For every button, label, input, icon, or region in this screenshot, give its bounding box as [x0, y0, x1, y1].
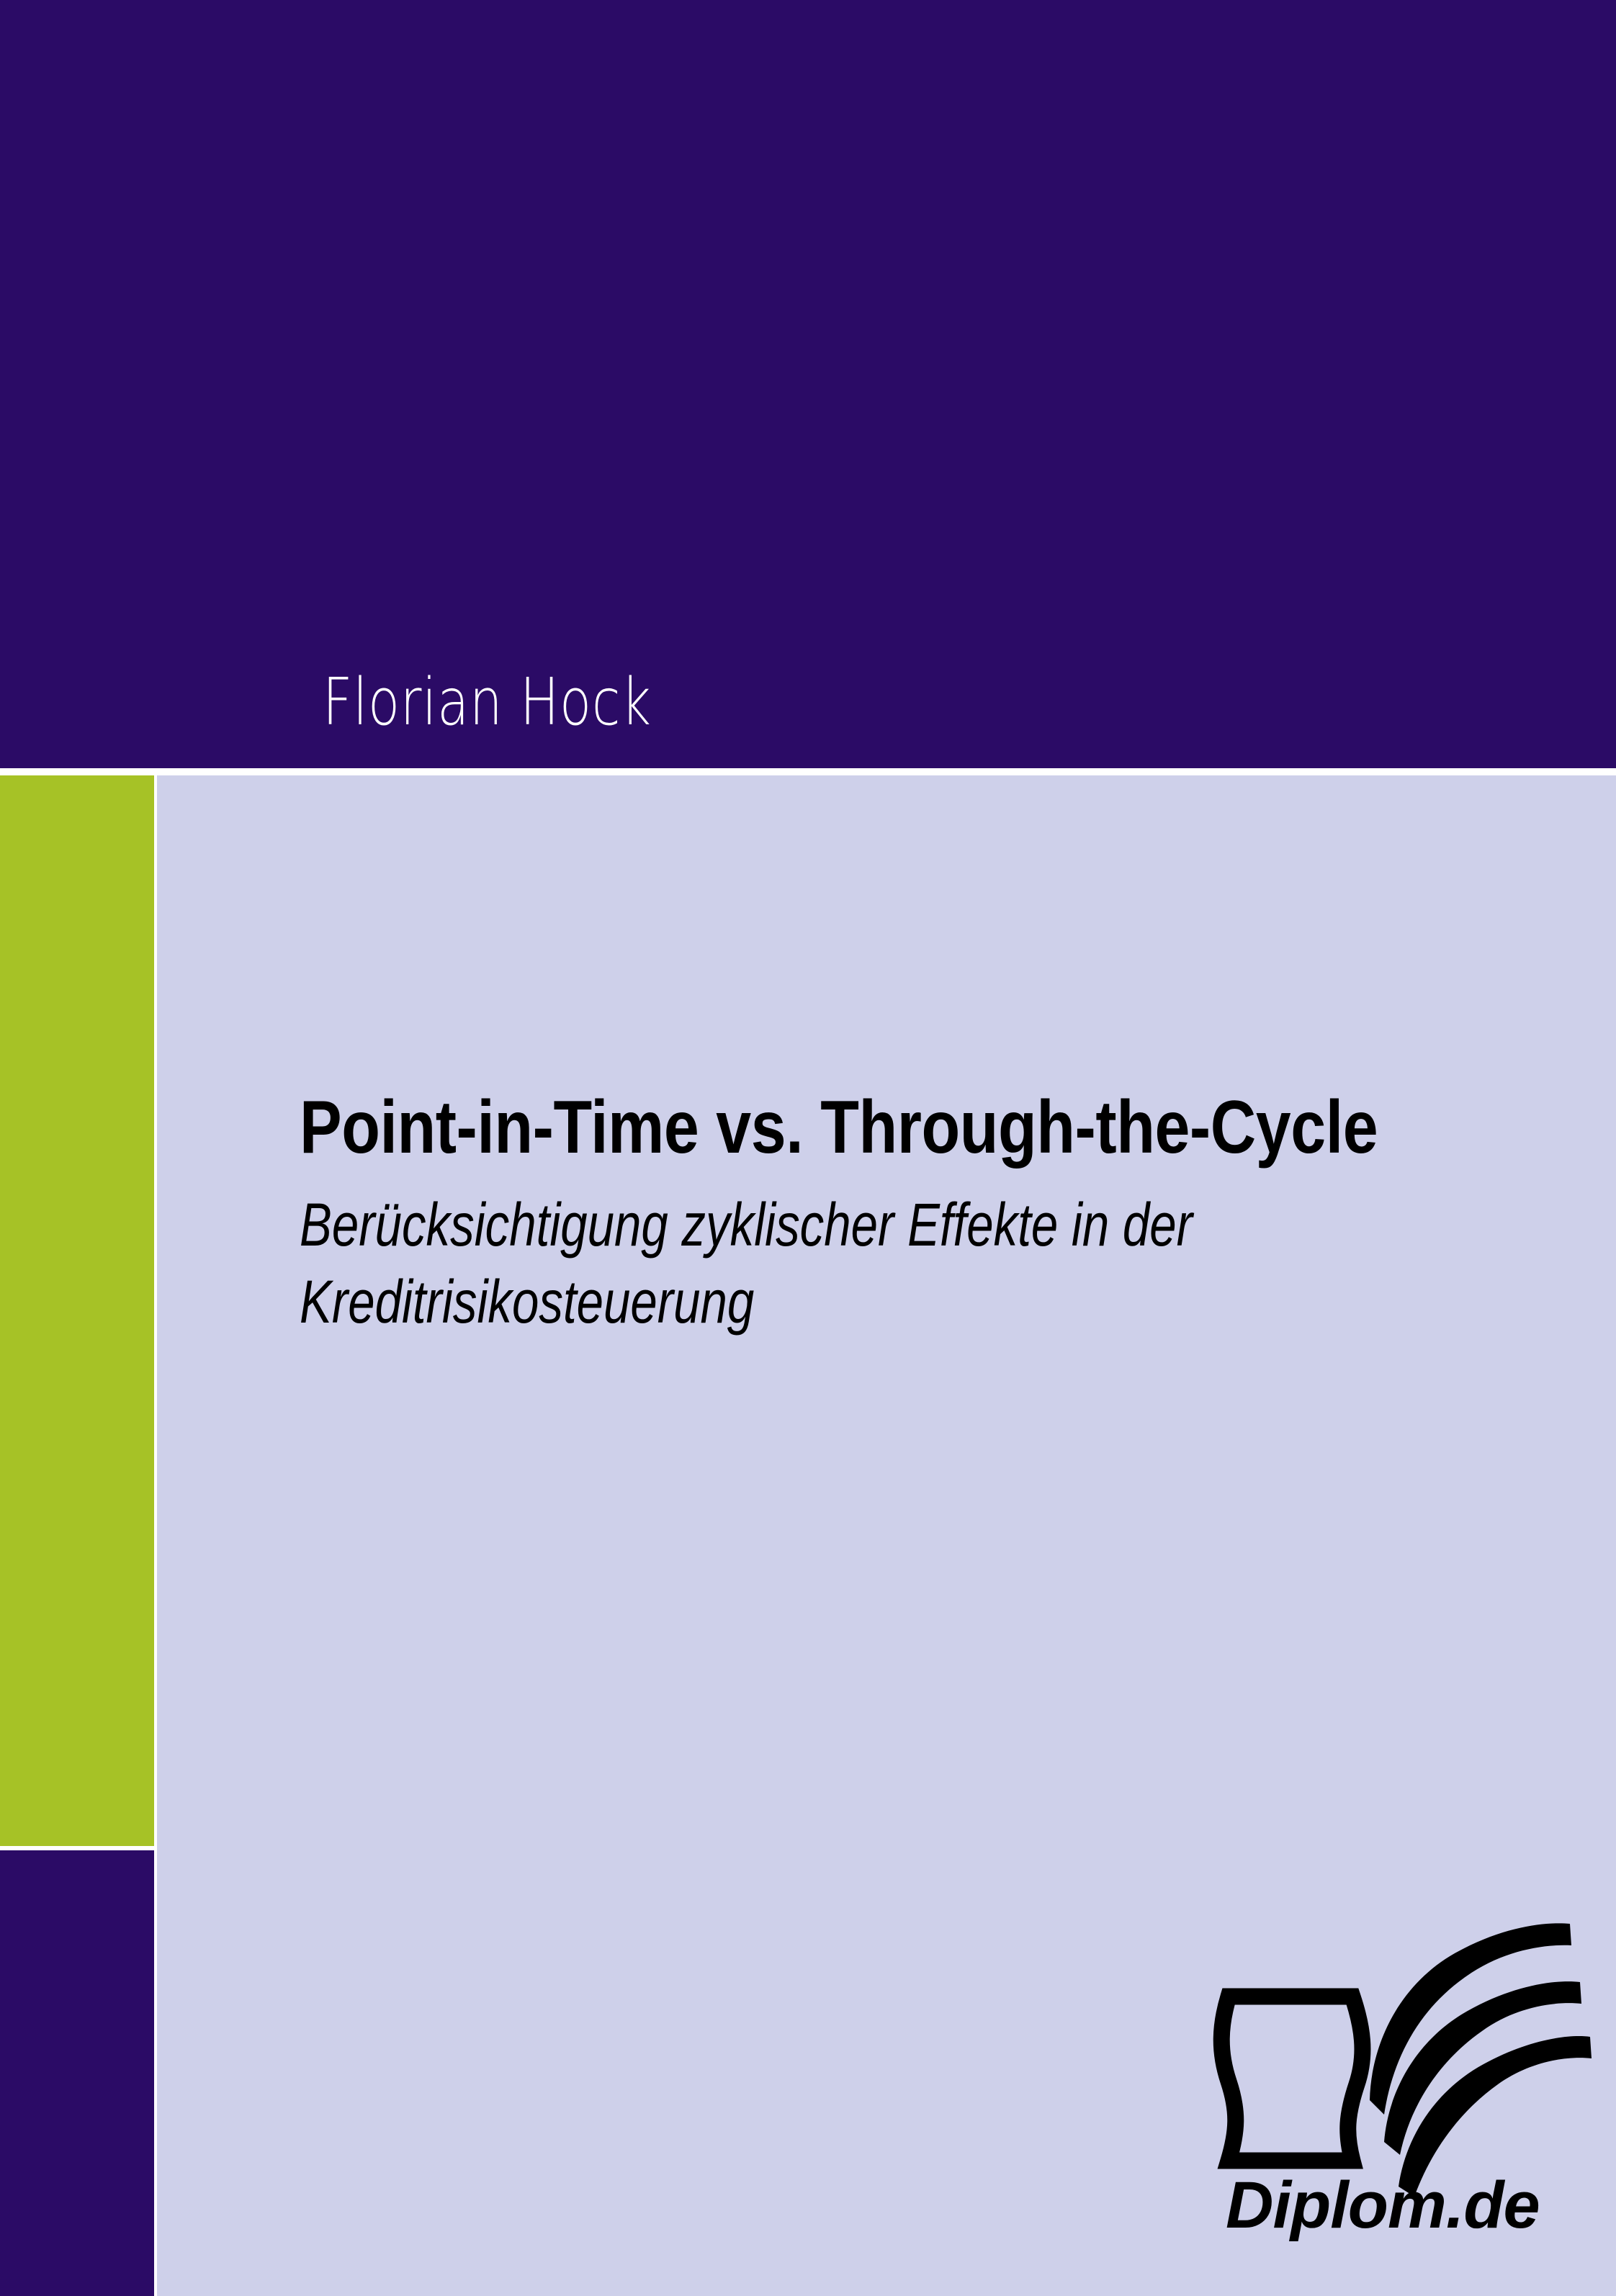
book-cover: Florian Hock Point-in-Time vs. Through-t… — [0, 0, 1616, 2296]
left-rail-green — [0, 775, 154, 1846]
author-name: Florian Hock — [323, 668, 1187, 737]
left-rail-purple — [0, 1850, 154, 2296]
publisher-logo: Diplom.de — [1203, 1904, 1592, 2250]
title-block: Point-in-Time vs. Through-the-Cycle Berü… — [300, 1087, 1567, 1341]
header-purple-band — [0, 0, 1616, 768]
publisher-name: Diplom.de — [1226, 2172, 1540, 2238]
open-book-icon — [1221, 1996, 1363, 2161]
book-subtitle: Berücksichtigung zyklischer Effekte in d… — [300, 1187, 1314, 1341]
book-title: Point-in-Time vs. Through-the-Cycle — [300, 1087, 1370, 1168]
